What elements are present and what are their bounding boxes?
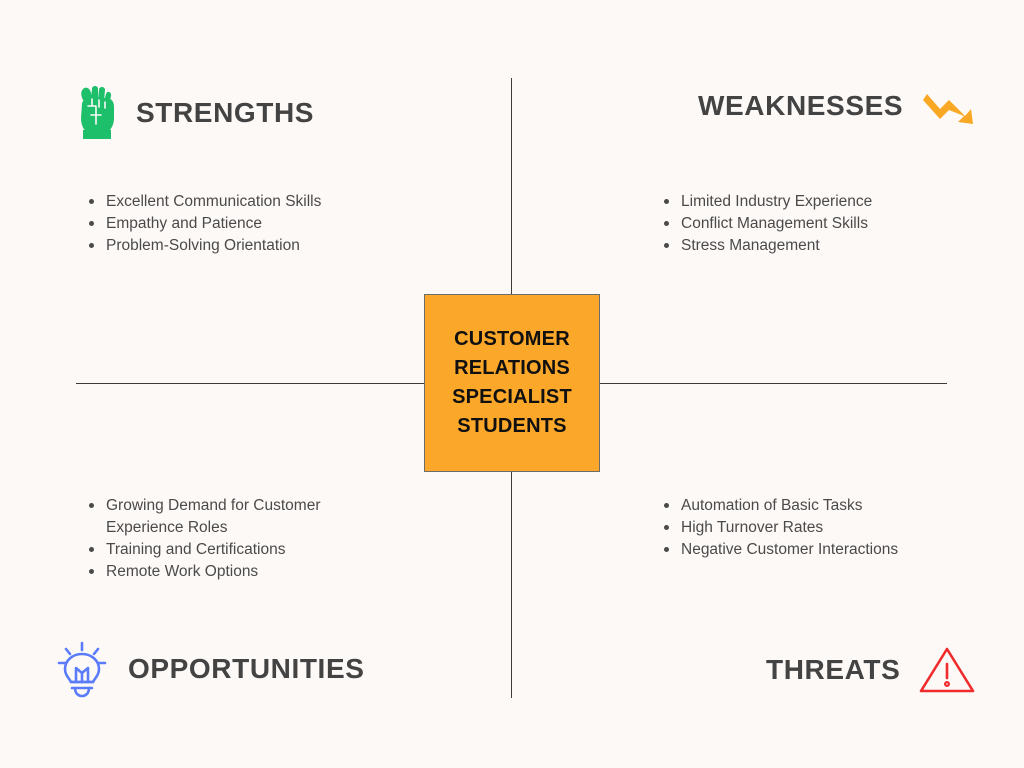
quadrant-header-threats: THREATS: [766, 644, 976, 696]
list-item: Stress Management: [659, 235, 979, 257]
weaknesses-list: Limited Industry Experience Conflict Man…: [659, 191, 979, 257]
list-item: Growing Demand for Customer Experience R…: [84, 495, 354, 539]
list-item: Training and Certifications: [84, 539, 354, 561]
threats-list: Automation of Basic Tasks High Turnover …: [659, 495, 979, 561]
strengths-list: Excellent Communication Skills Empathy a…: [84, 191, 424, 257]
center-subject-box: CUSTOMER RELATIONS SPECIALIST STUDENTS: [424, 294, 600, 472]
opportunities-list: Growing Demand for Customer Experience R…: [84, 495, 354, 583]
list-item: Remote Work Options: [84, 561, 354, 583]
center-line: STUDENTS: [457, 412, 566, 441]
quadrant-title-threats: THREATS: [766, 654, 900, 686]
list-item: Automation of Basic Tasks: [659, 495, 979, 517]
list-item: Negative Customer Interactions: [659, 539, 979, 561]
lightbulb-icon: [54, 638, 110, 700]
center-line: SPECIALIST: [452, 383, 572, 412]
quadrant-title-opportunities: OPPORTUNITIES: [128, 653, 365, 685]
list-item: Conflict Management Skills: [659, 213, 979, 235]
quadrant-header-weaknesses: WEAKNESSES: [698, 84, 979, 128]
list-item: Excellent Communication Skills: [84, 191, 424, 213]
list-item: Problem-Solving Orientation: [84, 235, 424, 257]
quadrant-title-weaknesses: WEAKNESSES: [698, 90, 903, 122]
downward-trend-arrow-icon: [921, 84, 979, 128]
quadrant-header-strengths: STRENGTHS: [72, 84, 314, 142]
center-line: CUSTOMER: [454, 325, 570, 354]
quadrant-header-opportunities: OPPORTUNITIES: [54, 638, 365, 700]
center-line: RELATIONS: [454, 354, 570, 383]
warning-triangle-icon: [918, 644, 976, 696]
swot-diagram: STRENGTHS Excellent Communication Skills…: [0, 0, 1024, 768]
raised-fist-icon: [72, 84, 118, 142]
list-item: High Turnover Rates: [659, 517, 979, 539]
list-item: Empathy and Patience: [84, 213, 424, 235]
quadrant-title-strengths: STRENGTHS: [136, 97, 314, 129]
list-item: Limited Industry Experience: [659, 191, 979, 213]
